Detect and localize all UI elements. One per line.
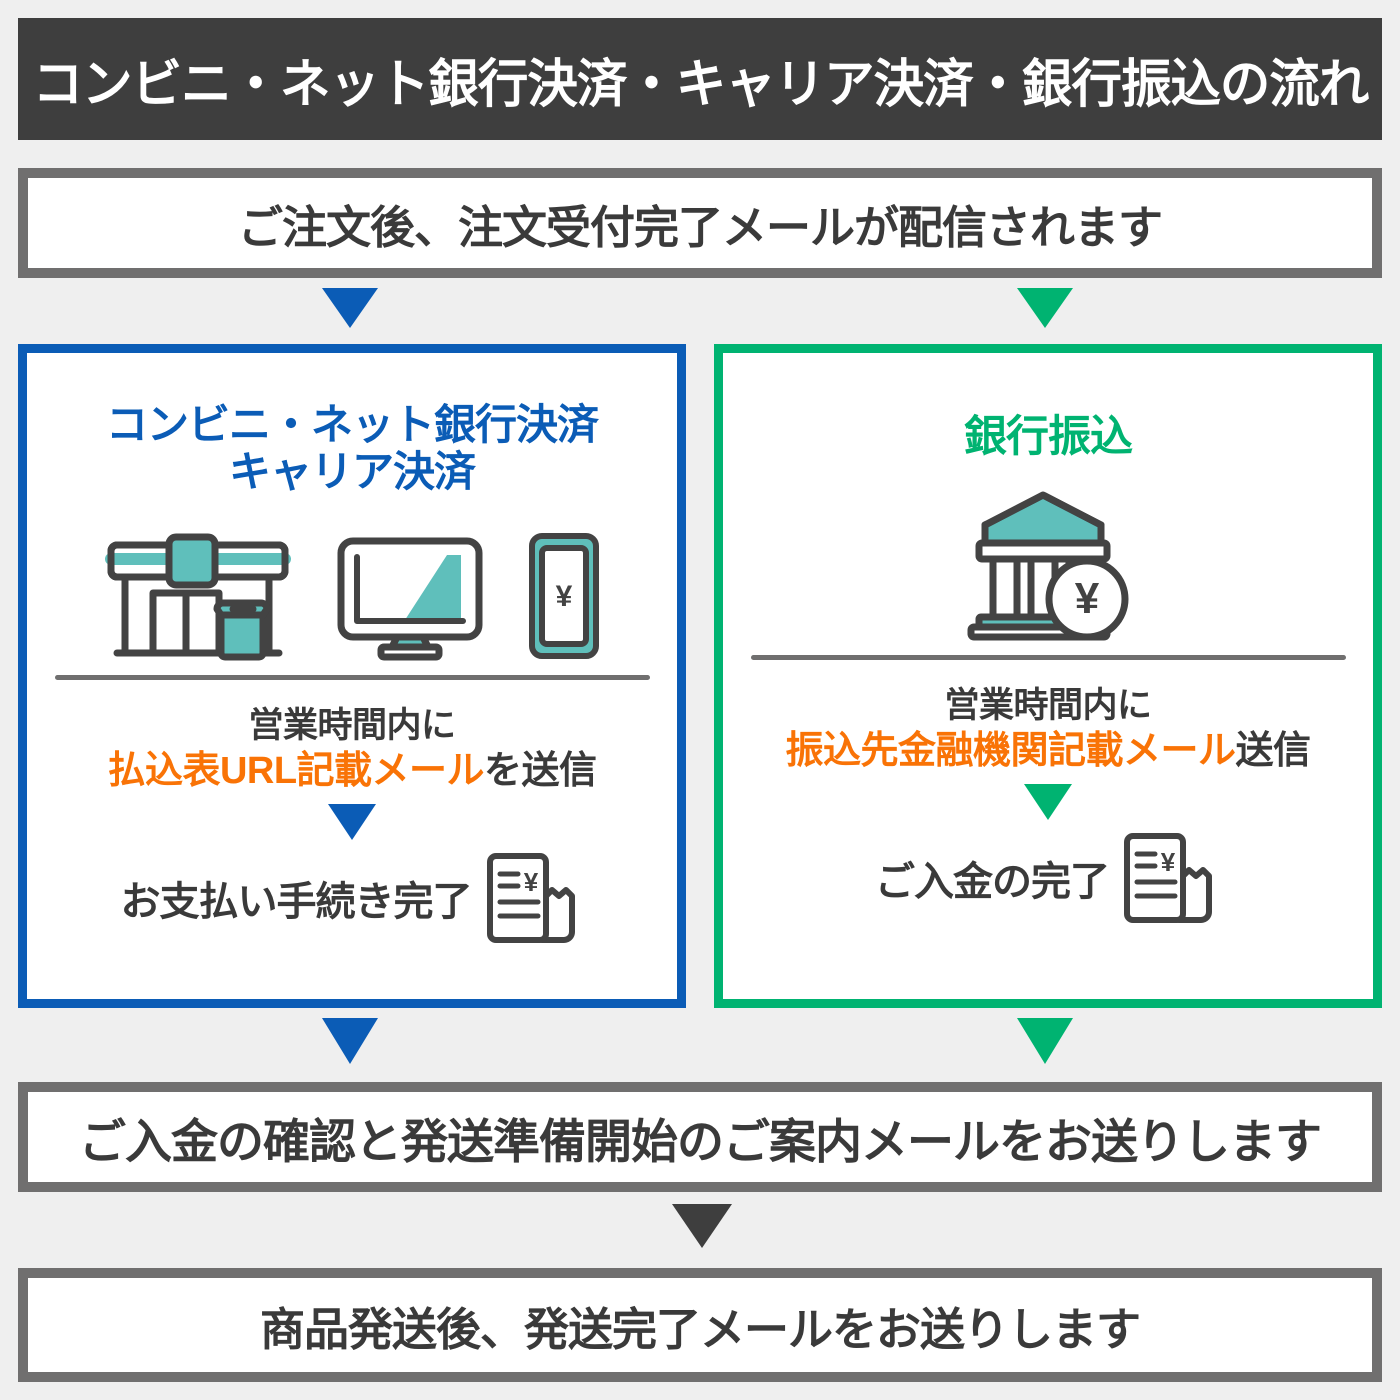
- panel-konbini-divider: [55, 675, 650, 680]
- panel-konbini-note-line1: 営業時間内に: [248, 706, 455, 745]
- down-arrow-dark-final: [672, 1204, 732, 1248]
- down-arrow-blue-top: [322, 288, 378, 328]
- panel-furikomi-note: 営業時間内に 振込先金融機関記載メール送信: [723, 684, 1373, 776]
- panel-furikomi-note-line1: 営業時間内に: [944, 686, 1151, 725]
- flow-diagram-page: コンビニ・ネット銀行決済・キャリア決済・銀行振込の流れ ご注文後、注文受付完了メ…: [0, 0, 1400, 1400]
- panel-konbini-note-highlight: 払込表URL記載メール: [107, 750, 484, 792]
- page-title: コンビニ・ネット銀行決済・キャリア決済・銀行振込の流れ: [32, 42, 1368, 117]
- panel-furikomi-result-row: ご入金の完了 ¥: [723, 830, 1373, 926]
- svg-text:¥: ¥: [556, 580, 573, 613]
- invoice-yen-icon: ¥: [1117, 830, 1221, 926]
- down-arrow-blue-bottom: [322, 1018, 378, 1064]
- step-order-label: ご注文後、注文受付完了メールが配信されます: [238, 191, 1162, 256]
- panel-konbini-title: コンビニ・ネット銀行決済 キャリア決済: [27, 401, 677, 495]
- panel-bank-transfer: 銀行振込: [714, 344, 1382, 1008]
- panel-konbini-note: 営業時間内に 払込表URL記載メールを送信: [27, 704, 677, 796]
- panel-furikomi-icon-row: ¥: [723, 491, 1373, 641]
- down-arrow-green-inner: [1024, 784, 1072, 820]
- panel-furikomi-result-label: ご入金の完了: [875, 849, 1109, 907]
- step-confirm-label: ご入金の確認と発送準備開始のご案内メールをお送りします: [79, 1103, 1321, 1172]
- step-box-order-received: ご注文後、注文受付完了メールが配信されます: [18, 168, 1382, 278]
- down-arrow-green-bottom: [1017, 1018, 1073, 1064]
- panel-furikomi-divider: [751, 655, 1346, 660]
- invoice-yen-icon: ¥: [480, 850, 584, 946]
- panel-konbini-result-row: お支払い手続き完了 ¥: [27, 850, 677, 946]
- panel-furikomi-title: 銀行振込: [723, 413, 1373, 461]
- bank-yen-icon: ¥: [957, 489, 1139, 641]
- down-arrow-green-top: [1017, 288, 1073, 328]
- step-box-payment-confirmed: ご入金の確認と発送準備開始のご案内メールをお送りします: [18, 1082, 1382, 1192]
- header-banner: コンビニ・ネット銀行決済・キャリア決済・銀行振込の流れ: [18, 18, 1382, 140]
- desktop-monitor-icon: [335, 535, 485, 661]
- svg-text:¥: ¥: [523, 867, 538, 897]
- panel-konbini-note-tail: を送信: [484, 750, 597, 792]
- panel-konbini-icon-row: ¥: [27, 511, 677, 661]
- panel-furikomi-note-tail: 送信: [1236, 730, 1311, 772]
- panel-konbini-result-label: お支払い手続き完了: [121, 869, 472, 927]
- panel-furikomi-note-highlight: 振込先金融機関記載メール: [785, 730, 1235, 772]
- smartphone-yen-icon: ¥: [527, 531, 601, 661]
- down-arrow-blue-inner: [328, 804, 376, 840]
- convenience-store-icon: [103, 529, 293, 661]
- step-shipped-label: 商品発送後、発送完了メールをお送りします: [260, 1293, 1140, 1358]
- svg-text:¥: ¥: [1161, 847, 1176, 877]
- svg-text:¥: ¥: [1075, 574, 1100, 623]
- panel-konbini-payment: コンビニ・ネット銀行決済 キャリア決済: [18, 344, 686, 1008]
- step-box-shipped: 商品発送後、発送完了メールをお送りします: [18, 1268, 1382, 1382]
